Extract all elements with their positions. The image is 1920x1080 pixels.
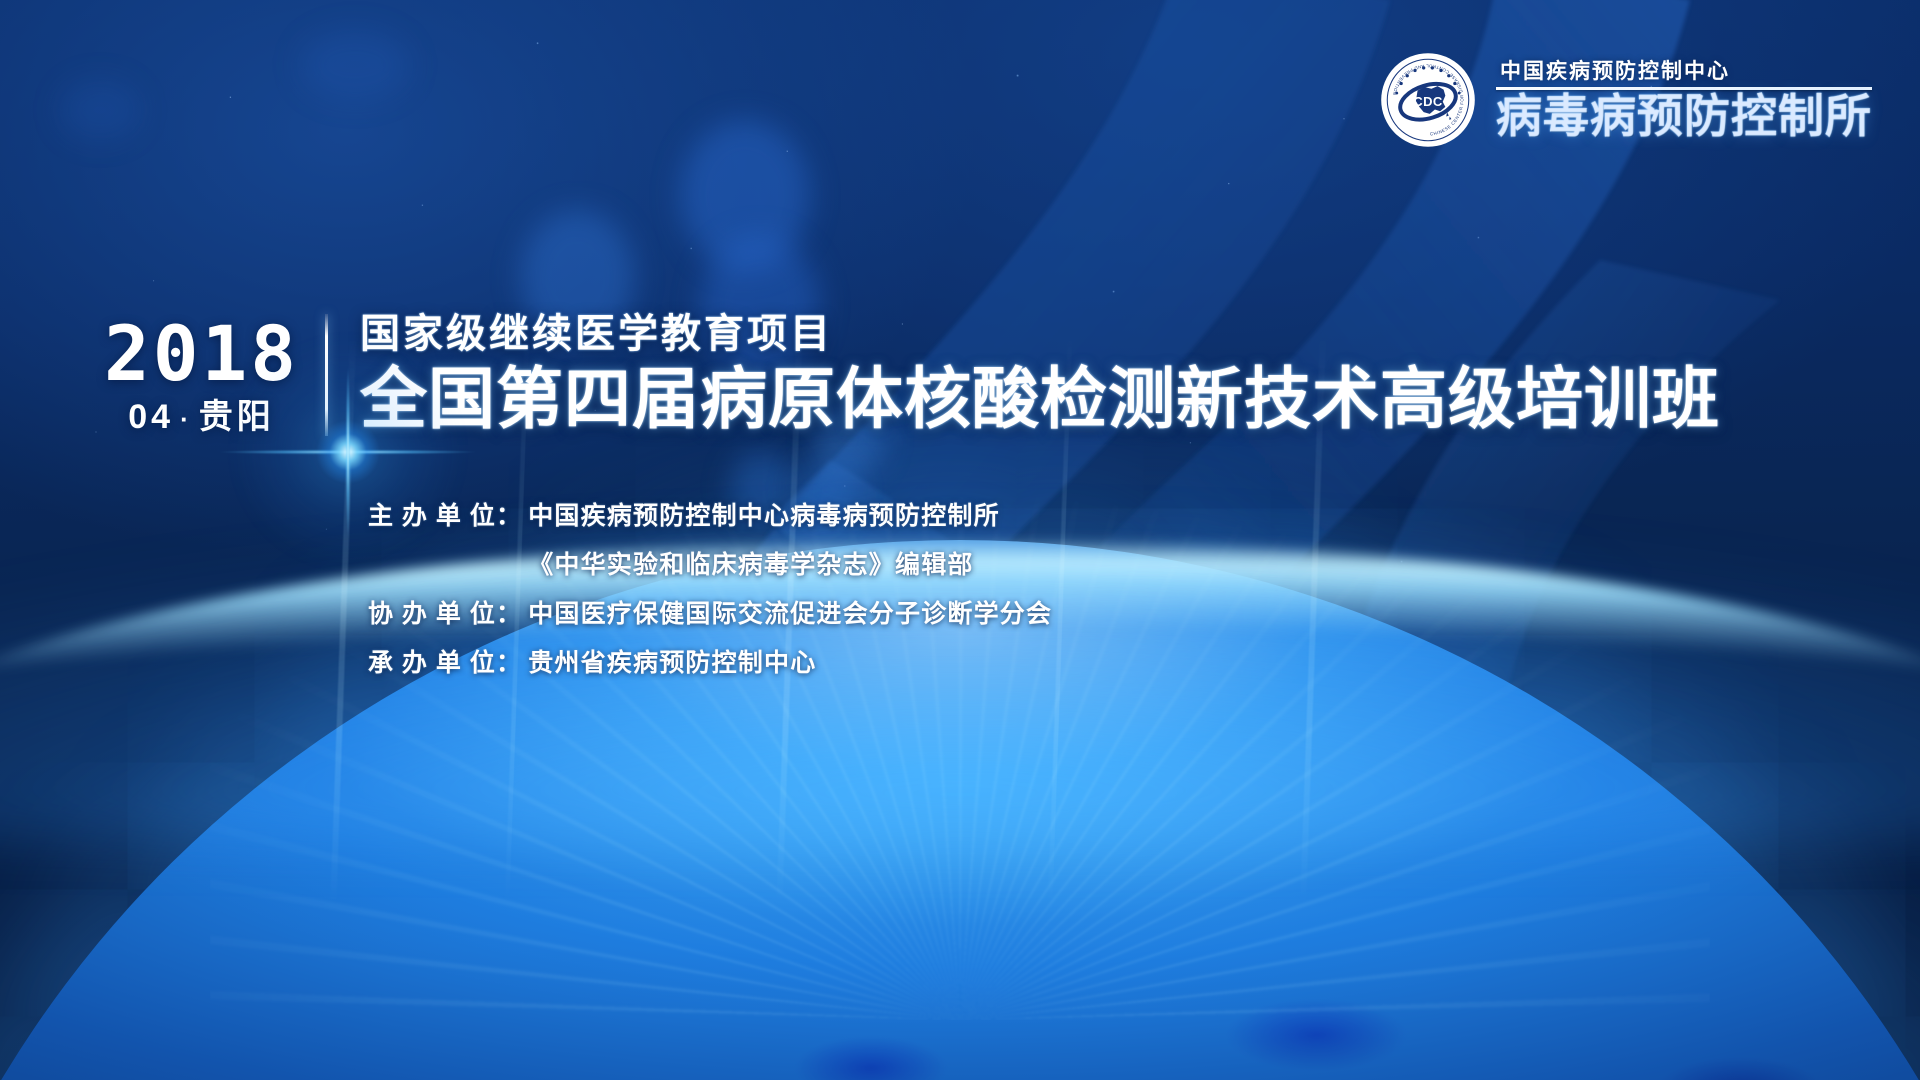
title-block: 国家级继续医学教育项目 全国第四届病原体核酸检测新技术高级培训班 [328, 312, 1720, 436]
organizer-row: 协办单位：中国医疗保健国际交流促进会分子诊断学分会 [368, 594, 1052, 630]
event-subtitle: 国家级继续医学教育项目 [360, 312, 1720, 356]
cdc-circular-emblem-icon: CDC CHINESE CENTER FOR DISEASE CONTROL A… [1376, 48, 1480, 152]
date-location-block: 2018 04·贵阳 [104, 312, 325, 436]
conference-poster: CDC CHINESE CENTER FOR DISEASE CONTROL A… [0, 0, 1920, 1080]
event-year: 2018 [104, 318, 299, 390]
svg-text:CDC: CDC [1413, 94, 1443, 109]
organizer-row: 主办单位：《中华实验和临床病毒学杂志》编辑部 [368, 545, 1052, 581]
organizer-colon: ： [496, 643, 522, 679]
organizer-list: 主办单位：中国疾病预防控制中心病毒病预防控制所 主办单位：《中华实验和临床病毒学… [368, 496, 1052, 679]
event-month-city: 04·贵阳 [128, 400, 275, 434]
headline-block: 2018 04·贵阳 国家级继续医学教育项目 全国第四届病原体核酸检测新技术高级… [104, 312, 1720, 436]
logo-department-name: 病毒病预防控制所 [1496, 93, 1872, 140]
event-month: 04 [128, 398, 174, 436]
organizer-value: 中国疾病预防控制中心病毒病预防控制所 [528, 496, 1000, 532]
organizer-row: 承办单位：贵州省疾病预防控制中心 [368, 643, 1052, 679]
event-city: 贵阳 [199, 398, 275, 436]
event-separator: · [174, 404, 199, 434]
logo-organization-name: 中国疾病预防控制中心 [1496, 61, 1872, 82]
organizer-colon: ： [496, 496, 522, 532]
organizer-label: 承办单位 [368, 643, 496, 679]
organizer-value: 《中华实验和临床病毒学杂志》编辑部 [528, 545, 973, 581]
organizer-label: 协办单位 [368, 594, 496, 630]
organizer-value: 中国医疗保健国际交流促进会分子诊断学分会 [528, 594, 1052, 630]
organizer-colon: ： [496, 594, 522, 630]
organizer-row: 主办单位：中国疾病预防控制中心病毒病预防控制所 [368, 496, 1052, 532]
cdc-logo: CDC CHINESE CENTER FOR DISEASE CONTROL A… [1376, 48, 1872, 152]
organizer-label: 主办单位 [368, 496, 496, 532]
organizer-value: 贵州省疾病预防控制中心 [528, 643, 816, 679]
event-title: 全国第四届病原体核酸检测新技术高级培训班 [360, 364, 1720, 436]
